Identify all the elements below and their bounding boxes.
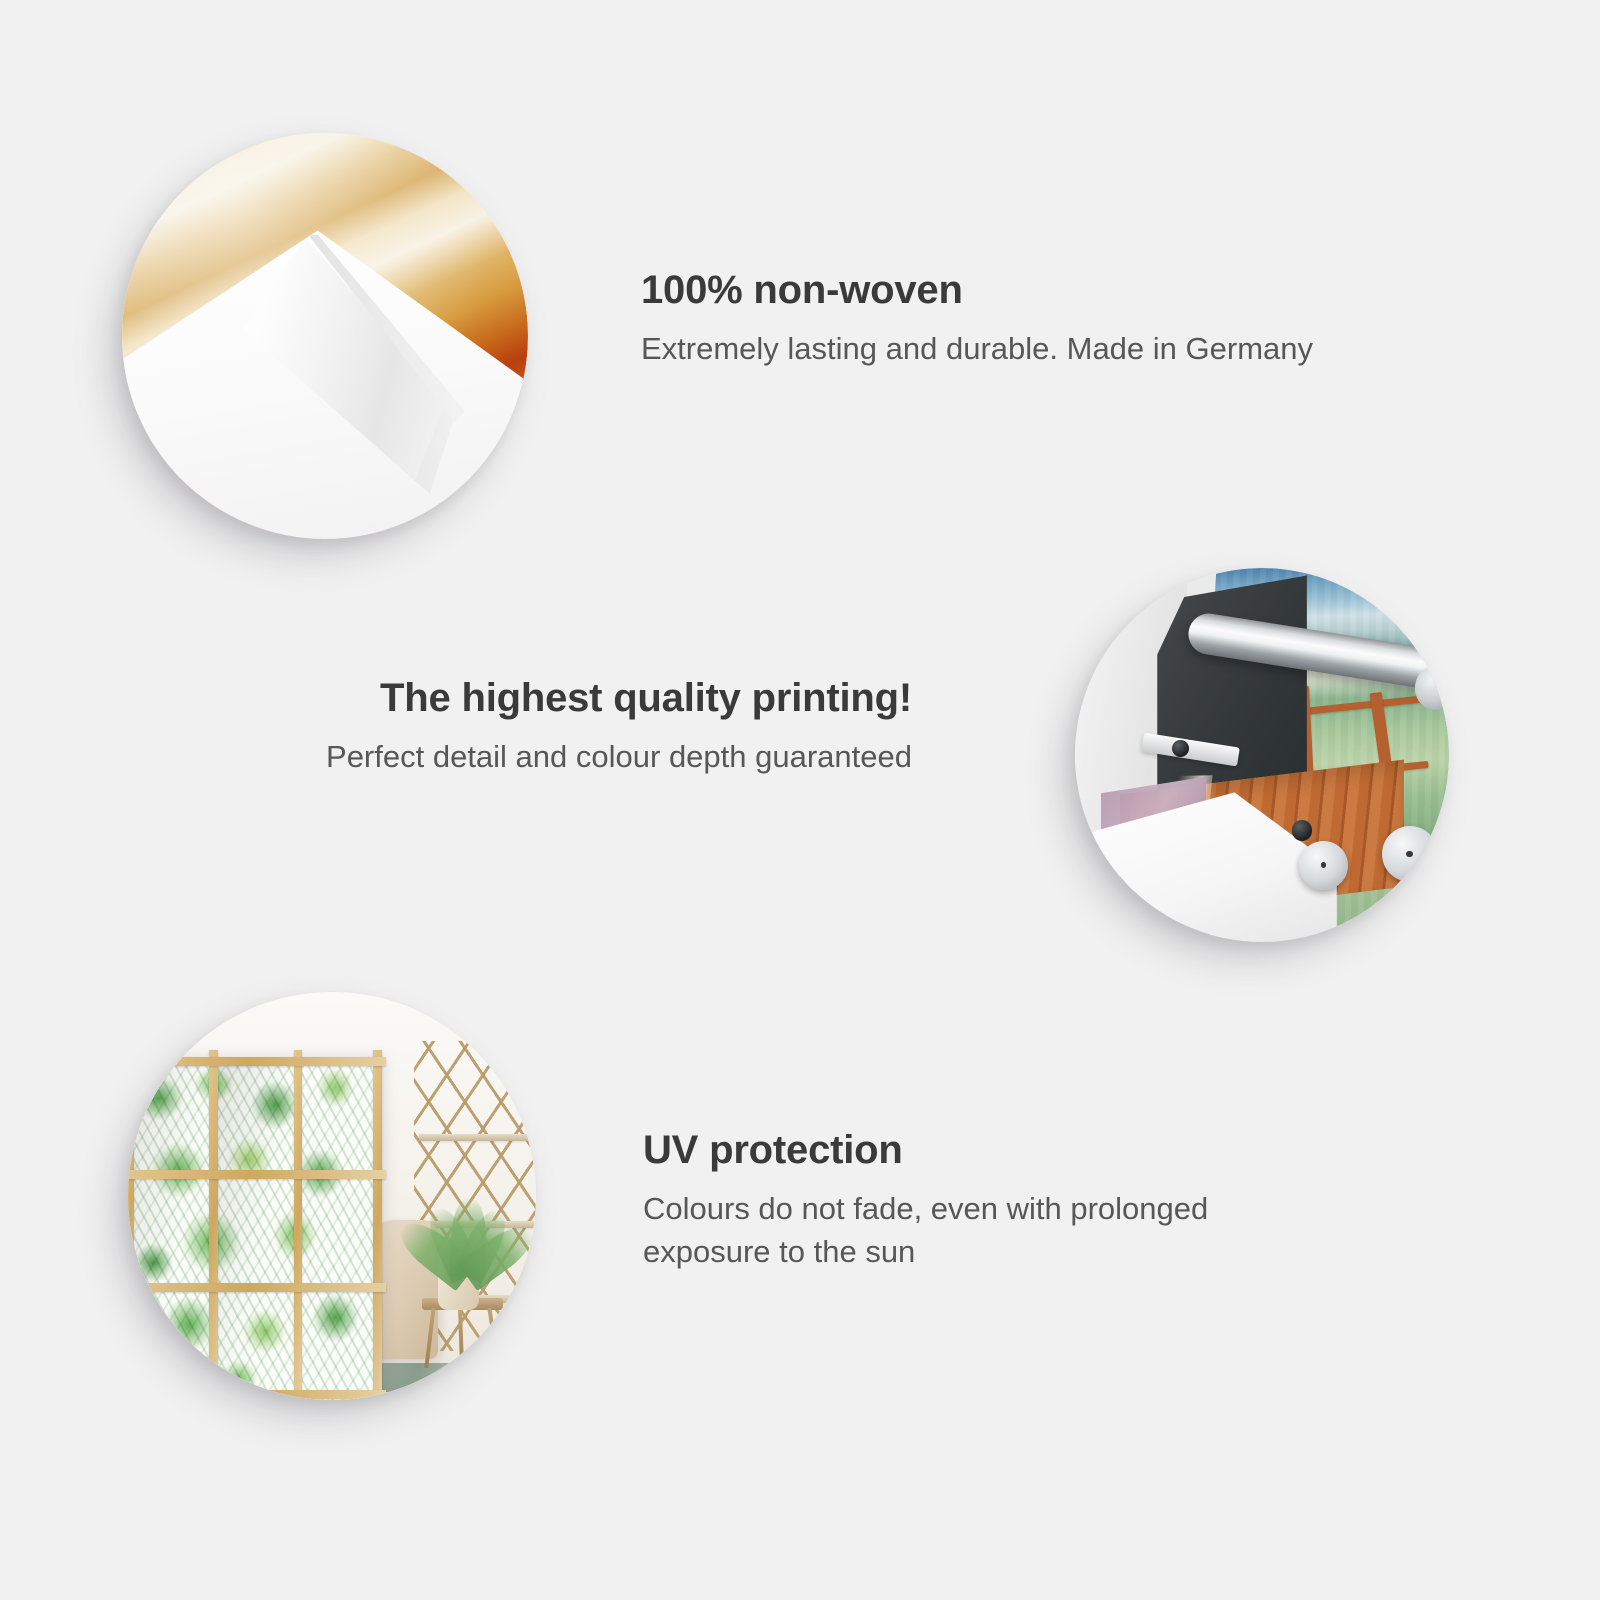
printer-wheel-right: [1382, 826, 1438, 882]
side-table-leg-3: [487, 1308, 500, 1368]
feature-image-printing: [1075, 568, 1449, 942]
printer-knob-upper: [1172, 740, 1189, 757]
palm-plant: [405, 1172, 511, 1278]
feature-text-printing: The highest quality printing! Perfect de…: [300, 676, 912, 779]
feature-title-uv-protection: UV protection: [643, 1128, 1263, 1172]
feature-description-printing: Perfect detail and colour depth guarante…: [300, 736, 912, 779]
feature-title-printing: The highest quality printing!: [300, 676, 912, 720]
frame-rail-v3: [294, 1050, 303, 1400]
feature-text-non-woven: 100% non-woven Extremely lasting and dur…: [641, 268, 1321, 371]
non-woven-photo: [122, 133, 528, 539]
feature-text-uv-protection: UV protection Colours do not fade, even …: [643, 1128, 1263, 1274]
feature-description-uv-protection: Colours do not fade, even with prolonged…: [643, 1188, 1263, 1274]
frame-rail-h3: [128, 1283, 386, 1292]
frame-rail-h2: [128, 1170, 386, 1179]
feature-image-non-woven: [122, 133, 528, 539]
side-table-leg-1: [425, 1308, 436, 1368]
side-table-leg-2: [458, 1308, 464, 1368]
frame-rail-h4: [128, 1390, 386, 1399]
feature-image-uv-protection: [128, 992, 536, 1400]
feature-description-non-woven: Extremely lasting and durable. Made in G…: [641, 328, 1321, 371]
frame-rail-h1: [128, 1057, 386, 1066]
printer-wheel-left: [1299, 841, 1348, 890]
divider-wooden-frame: [128, 1057, 381, 1400]
infographic-stage: 100% non-woven Extremely lasting and dur…: [0, 0, 1600, 1600]
uv-room-photo: [128, 992, 536, 1400]
folding-room-divider: [128, 1057, 381, 1400]
frame-rail-v2: [209, 1050, 218, 1400]
feature-title-non-woven: 100% non-woven: [641, 268, 1321, 312]
frame-rail-v4: [373, 1050, 382, 1400]
frame-rail-v1: [128, 1050, 134, 1400]
lattice-shelf-board-1: [419, 1134, 536, 1141]
printing-machine-photo: [1075, 568, 1449, 942]
